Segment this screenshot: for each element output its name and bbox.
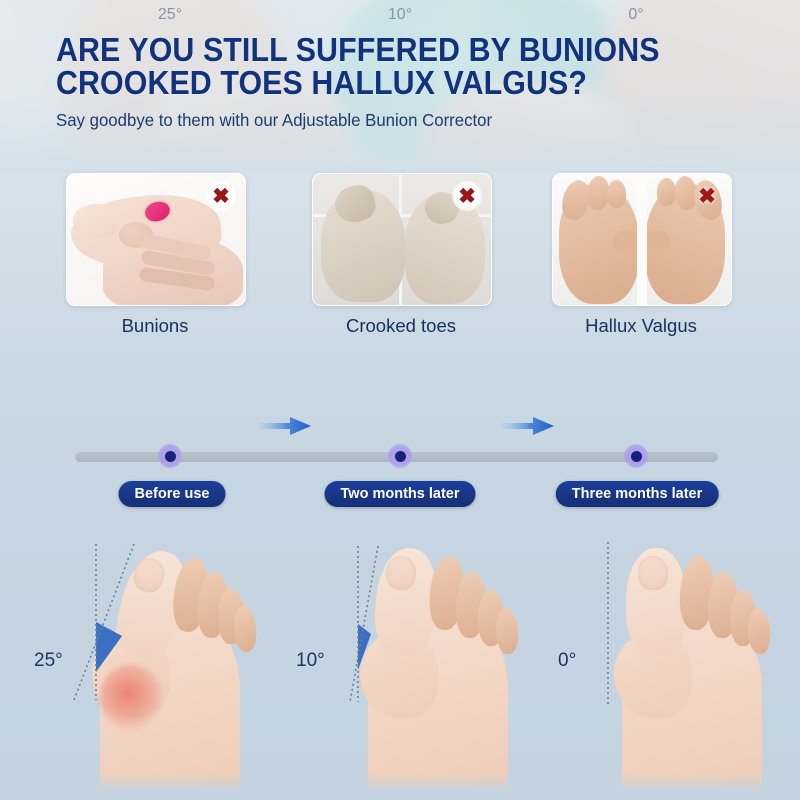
- condition-caption: Hallux Valgus: [552, 315, 730, 337]
- timeline-stage-pill[interactable]: Three months later: [556, 481, 719, 507]
- headline-line-1: ARE YOU STILL SUFFERED BY BUNIONS: [56, 31, 660, 68]
- infographic-page: ARE YOU STILL SUFFERED BY BUNIONS CROOKE…: [0, 0, 800, 800]
- subheadline: Say goodbye to them with our Adjustable …: [56, 110, 728, 131]
- condition-thumbnail: ✖: [312, 173, 492, 306]
- foot-comparison-item: 10°: [286, 524, 552, 800]
- timeline-marker-dot[interactable]: [388, 444, 412, 468]
- angle-degree-label: 10°: [296, 650, 325, 672]
- condition-card[interactable]: ✖ Bunions: [66, 173, 244, 337]
- condition-caption: Bunions: [66, 315, 244, 337]
- timeline-stage-pill[interactable]: Two months later: [325, 481, 476, 507]
- headline-block: ARE YOU STILL SUFFERED BY BUNIONS CROOKE…: [56, 33, 756, 131]
- timeline-marker-dot[interactable]: [624, 444, 648, 468]
- arrow-right-icon: [500, 414, 556, 438]
- timeline-stage-pill[interactable]: Before use: [119, 481, 226, 507]
- page-title: ARE YOU STILL SUFFERED BY BUNIONS CROOKE…: [56, 33, 700, 99]
- arrow-right-icon: [257, 414, 313, 438]
- timeline-degree-label: 10°: [388, 6, 412, 24]
- x-mark-icon: ✖: [452, 181, 482, 211]
- angle-degree-label: 0°: [558, 650, 576, 672]
- timeline-marker-dot[interactable]: [158, 444, 182, 468]
- angle-annotation-10: [286, 524, 552, 800]
- angle-annotation-0: [540, 524, 800, 800]
- foot-comparison-item: 0°: [540, 524, 800, 800]
- condition-thumbnail: ✖: [66, 173, 246, 306]
- foot-comparison-item: 25°: [18, 524, 284, 800]
- timeline-degree-label: 25°: [158, 6, 182, 24]
- headline-line-2: CROOKED TOES HALLUX VALGUS?: [56, 66, 700, 99]
- condition-card-list: ✖ Bunions ✖ Crooked toes: [0, 173, 800, 343]
- condition-card[interactable]: ✖ Crooked toes: [312, 173, 490, 337]
- x-mark-icon: ✖: [206, 181, 236, 211]
- x-mark-icon: ✖: [692, 181, 722, 211]
- foot-comparison-row: 25° 10°: [0, 524, 800, 800]
- bottom-fade: [0, 774, 800, 800]
- condition-card[interactable]: ✖ Hallux Valgus: [552, 173, 730, 337]
- angle-degree-label: 25°: [34, 650, 63, 672]
- timeline-degree-label: 0°: [628, 6, 643, 24]
- condition-caption: Crooked toes: [312, 315, 490, 337]
- condition-thumbnail: ✖: [552, 173, 732, 306]
